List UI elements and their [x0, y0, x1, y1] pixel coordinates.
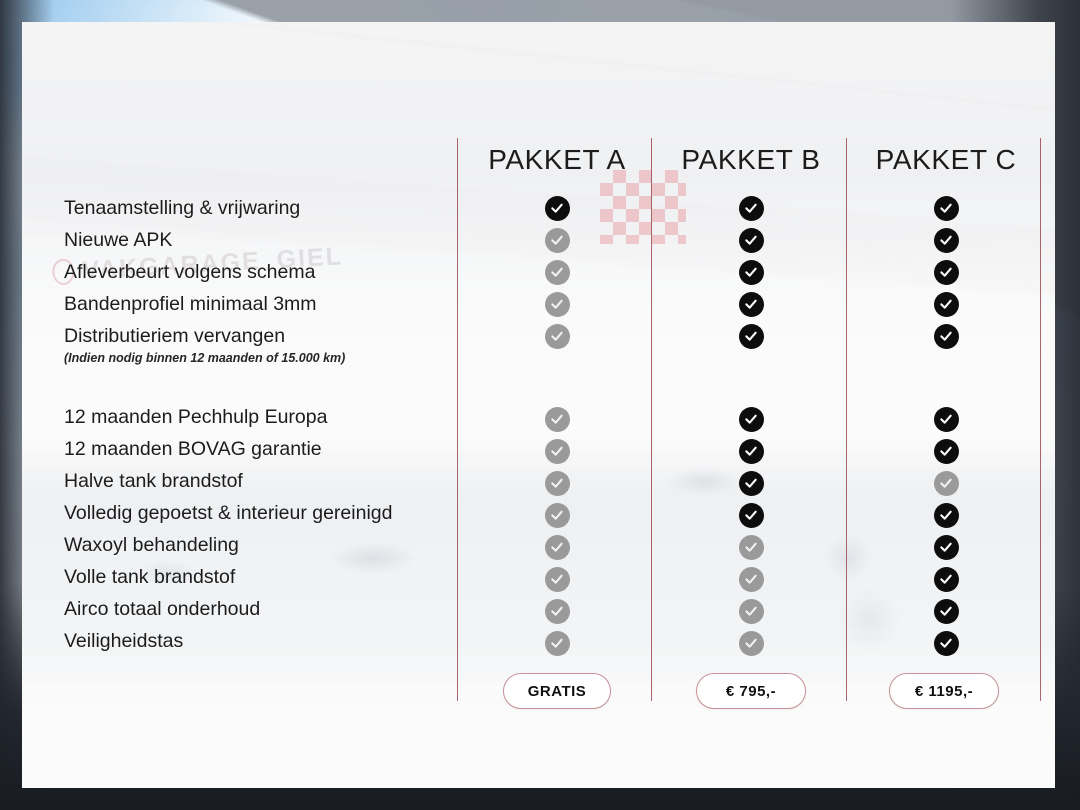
- check-cell: [654, 288, 848, 320]
- check-cell: [654, 531, 848, 563]
- group-gap-spacer: [460, 369, 654, 403]
- check-muted-icon: [545, 535, 570, 560]
- note-spacer: [460, 352, 654, 369]
- check-filled-icon: [739, 292, 764, 317]
- check-cell: [654, 467, 848, 499]
- check-filled-icon: [739, 260, 764, 285]
- check-cell: [460, 627, 654, 659]
- check-cell: [654, 595, 848, 627]
- check-cell: [460, 403, 654, 435]
- check-muted-icon: [545, 439, 570, 464]
- check-muted-icon: [545, 471, 570, 496]
- feature-label-list: Tenaamstelling & vrijwaring Nieuwe APK A…: [64, 192, 464, 657]
- feature-label: Waxoyl behandeling: [64, 529, 464, 561]
- check-cell: [460, 224, 654, 256]
- check-cell: [460, 467, 654, 499]
- check-filled-icon: [934, 439, 959, 464]
- check-cell: [849, 627, 1043, 659]
- check-muted-icon: [545, 599, 570, 624]
- package-header-a: PAKKET A: [460, 144, 654, 176]
- check-cell: [654, 499, 848, 531]
- feature-label: Nieuwe APK: [64, 224, 464, 256]
- check-filled-icon: [934, 260, 959, 285]
- check-muted-icon: [545, 567, 570, 592]
- check-cell: [849, 320, 1043, 352]
- check-cell: [849, 256, 1043, 288]
- check-filled-icon: [934, 196, 959, 221]
- check-muted-icon: [545, 292, 570, 317]
- check-cell: [849, 435, 1043, 467]
- check-cell: [849, 595, 1043, 627]
- check-muted-icon: [739, 567, 764, 592]
- check-column-b: [654, 192, 848, 659]
- check-cell: [849, 563, 1043, 595]
- check-cell: [654, 224, 848, 256]
- check-filled-icon: [739, 503, 764, 528]
- group-gap-spacer: [654, 369, 848, 403]
- check-cell: [460, 563, 654, 595]
- note-spacer: [654, 352, 848, 369]
- check-muted-icon: [934, 471, 959, 496]
- check-muted-icon: [545, 503, 570, 528]
- check-cell: [849, 467, 1043, 499]
- check-muted-icon: [545, 407, 570, 432]
- check-filled-icon: [934, 503, 959, 528]
- check-cell: [654, 403, 848, 435]
- check-filled-icon: [934, 567, 959, 592]
- check-filled-icon: [739, 196, 764, 221]
- check-cell: [849, 403, 1043, 435]
- feature-label: Bandenprofiel minimaal 3mm: [64, 288, 464, 320]
- check-cell: [654, 256, 848, 288]
- check-cell: [654, 627, 848, 659]
- check-filled-icon: [739, 471, 764, 496]
- feature-label: Halve tank brandstof: [64, 465, 464, 497]
- package-header-b: PAKKET B: [654, 144, 848, 176]
- check-filled-icon: [739, 407, 764, 432]
- check-muted-icon: [739, 631, 764, 656]
- check-cell: [460, 499, 654, 531]
- feature-label: Tenaamstelling & vrijwaring: [64, 192, 464, 224]
- check-cell: [460, 435, 654, 467]
- check-muted-icon: [545, 260, 570, 285]
- feature-label: 12 maanden Pechhulp Europa: [64, 401, 464, 433]
- package-header-c: PAKKET C: [849, 144, 1043, 176]
- check-cell: [849, 288, 1043, 320]
- feature-label: Volledig gepoetst & interieur gereinigd: [64, 497, 464, 529]
- check-filled-icon: [934, 228, 959, 253]
- check-filled-icon: [934, 324, 959, 349]
- check-muted-icon: [545, 324, 570, 349]
- check-cell: [654, 320, 848, 352]
- check-cell: [654, 435, 848, 467]
- check-muted-icon: [739, 599, 764, 624]
- feature-note: (Indien nodig binnen 12 maanden of 15.00…: [64, 350, 464, 367]
- check-cell: [460, 595, 654, 627]
- feature-label: Distributieriem vervangen: [64, 320, 464, 352]
- check-filled-icon: [934, 535, 959, 560]
- price-button-a[interactable]: GRATIS: [503, 673, 611, 709]
- check-filled-icon: [739, 439, 764, 464]
- check-muted-icon: [739, 535, 764, 560]
- feature-group-gap: [64, 367, 464, 401]
- feature-label: 12 maanden BOVAG garantie: [64, 433, 464, 465]
- check-cell: [460, 531, 654, 563]
- group-gap-spacer: [849, 369, 1043, 403]
- pricing-card: VAKGARAGEGIEL PAKKET A PAKKET B PAKKET C…: [22, 22, 1055, 788]
- feature-label: Airco totaal onderhoud: [64, 593, 464, 625]
- check-cell: [460, 256, 654, 288]
- check-muted-icon: [545, 631, 570, 656]
- check-cell: [460, 320, 654, 352]
- check-filled-icon: [934, 599, 959, 624]
- feature-label: Volle tank brandstof: [64, 561, 464, 593]
- note-spacer: [849, 352, 1043, 369]
- check-cell: [654, 563, 848, 595]
- check-cell: [849, 499, 1043, 531]
- check-filled-icon: [545, 196, 570, 221]
- check-cell: [849, 224, 1043, 256]
- check-cell: [849, 531, 1043, 563]
- check-filled-icon: [934, 292, 959, 317]
- feature-label: Veiligheidstas: [64, 625, 464, 657]
- price-button-c[interactable]: € 1195,-: [889, 673, 999, 709]
- feature-label: Afleverbeurt volgens schema: [64, 256, 464, 288]
- check-filled-icon: [934, 407, 959, 432]
- check-column-c: [849, 192, 1043, 659]
- check-column-a: [460, 192, 654, 659]
- check-filled-icon: [739, 324, 764, 349]
- check-cell: [460, 192, 654, 224]
- check-cell: [654, 192, 848, 224]
- check-filled-icon: [934, 631, 959, 656]
- check-muted-icon: [545, 228, 570, 253]
- check-filled-icon: [739, 228, 764, 253]
- check-cell: [849, 192, 1043, 224]
- check-cell: [460, 288, 654, 320]
- price-button-b[interactable]: € 795,-: [696, 673, 806, 709]
